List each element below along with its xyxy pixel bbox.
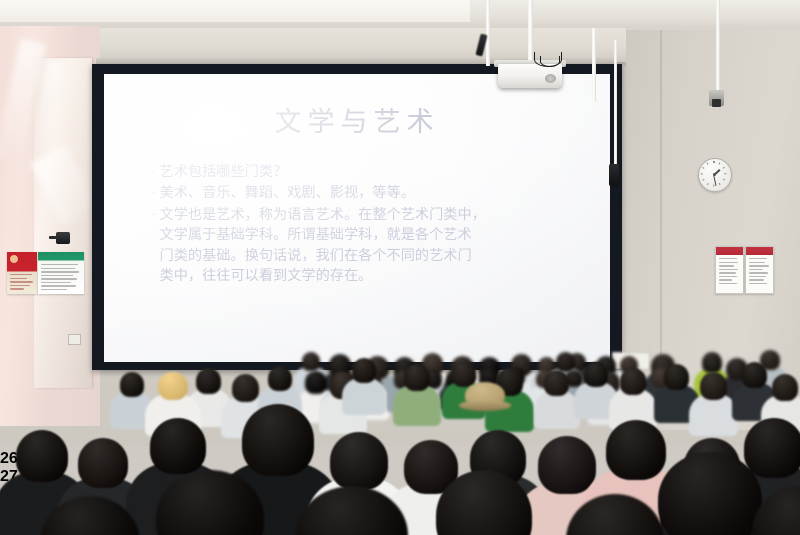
bullet-dot-icon: · bbox=[152, 183, 156, 203]
audience-member bbox=[620, 368, 646, 424]
wall-outlet bbox=[68, 334, 81, 345]
bullet-line: 类中，往往可以看到文学的存在。 bbox=[160, 266, 593, 286]
bullet-text: 文学也是艺术，称为语言艺术。在整个艺术门类中， 文学属于基础学科。所谓基础学科，… bbox=[160, 205, 593, 287]
slide-bullet: · 艺术包括哪些门类？ bbox=[152, 162, 592, 182]
audience-head bbox=[658, 452, 762, 535]
green-info-sign bbox=[680, 246, 712, 294]
audience-member bbox=[752, 486, 800, 535]
wall-clock bbox=[698, 158, 732, 192]
green-poster bbox=[38, 252, 84, 294]
audience-head bbox=[772, 374, 798, 401]
audience-head bbox=[268, 366, 292, 391]
audience-head bbox=[242, 404, 314, 476]
audience-shoulders bbox=[342, 378, 386, 415]
bullet-line: 文学属于基础学科。所谓基础学科，就是各个艺术 bbox=[160, 225, 593, 245]
audience-head bbox=[156, 470, 264, 535]
slide: 文学与艺术 · 艺术包括哪些门类？ · 美术、音乐、舞蹈、戏剧、影视，等等。 · bbox=[104, 74, 610, 362]
projector-lens-icon bbox=[545, 74, 556, 83]
audience-member bbox=[584, 362, 608, 414]
audience-member bbox=[436, 470, 532, 535]
audience-member bbox=[700, 372, 727, 430]
green-poster-text-lines bbox=[41, 264, 81, 293]
audience-head bbox=[452, 362, 476, 387]
audience-head bbox=[196, 368, 221, 394]
ceiling-pole bbox=[716, 0, 720, 92]
projector-cable-2 bbox=[540, 56, 560, 67]
notice-header bbox=[716, 247, 743, 255]
hanging-mic-cable bbox=[614, 40, 617, 170]
bullet-line: 门类的基础。换句话说，我们在各个不同的艺术门 bbox=[160, 246, 593, 266]
audience-member bbox=[296, 486, 408, 535]
lecture-hall-photo: 文学与艺术 · 艺术包括哪些门类？ · 美术、音乐、舞蹈、戏剧、影视，等等。 · bbox=[0, 0, 800, 535]
audience-member bbox=[544, 370, 569, 424]
projector-rod-left bbox=[486, 0, 490, 66]
bullet-line: 美术、音乐、舞蹈、戏剧、影视，等等。 bbox=[160, 183, 593, 203]
audience-head bbox=[302, 352, 320, 371]
audience-head bbox=[232, 374, 259, 402]
audience-member bbox=[156, 470, 264, 535]
audience-head bbox=[538, 436, 596, 494]
audience-head bbox=[150, 418, 206, 474]
red-poster bbox=[7, 252, 37, 294]
audience-head bbox=[296, 486, 408, 535]
audience-head bbox=[700, 372, 727, 400]
clock-center-pin bbox=[713, 173, 716, 176]
bullet-text: 美术、音乐、舞蹈、戏剧、影视，等等。 bbox=[160, 183, 593, 203]
audience-member bbox=[40, 496, 140, 535]
audience-head bbox=[584, 362, 608, 387]
notice-board-left bbox=[715, 246, 744, 294]
hanging-microphone bbox=[609, 164, 619, 186]
audience-head bbox=[120, 372, 144, 397]
audience-head bbox=[742, 362, 767, 388]
slide-title: 文学与艺术 bbox=[104, 100, 610, 139]
audience-head bbox=[436, 470, 532, 535]
audience-head bbox=[544, 370, 569, 396]
hat-brim bbox=[459, 400, 511, 411]
bullet-dot-icon: · bbox=[152, 162, 156, 182]
audience-head bbox=[606, 420, 666, 480]
bullet-line: 文学也是艺术，称为语言艺术。在整个艺术门类中， bbox=[160, 205, 593, 225]
audience-head bbox=[752, 486, 800, 535]
projector-rod-main bbox=[528, 0, 533, 66]
audience-head bbox=[16, 430, 68, 482]
ceiling-pole-camera-icon bbox=[709, 90, 724, 106]
audience-member bbox=[658, 452, 762, 535]
audience-head bbox=[620, 368, 646, 395]
left-pilaster bbox=[34, 58, 92, 388]
audience-head bbox=[158, 372, 188, 400]
red-poster-text-lines bbox=[10, 274, 34, 292]
notice-header bbox=[746, 247, 773, 255]
bullet-dot-icon: · bbox=[152, 205, 156, 225]
audience-member bbox=[664, 364, 689, 418]
notice-board-right bbox=[745, 246, 774, 294]
audience-head bbox=[352, 358, 376, 383]
audience-member bbox=[352, 358, 376, 410]
audience-member bbox=[404, 364, 430, 420]
bullet-line: 艺术包括哪些门类？ bbox=[160, 162, 593, 182]
projection-screen[interactable]: 文学与艺术 · 艺术包括哪些门类？ · 美术、音乐、舞蹈、戏剧、影视，等等。 · bbox=[104, 74, 610, 362]
notice-text-lines bbox=[716, 255, 743, 284]
slide-bullet: · 文学也是艺术，称为语言艺术。在整个艺术门类中， 文学属于基础学科。所谓基础学… bbox=[152, 205, 592, 287]
audience-head bbox=[78, 438, 128, 488]
ceiling-rod-right bbox=[592, 28, 596, 102]
audience-head bbox=[664, 364, 689, 390]
right-wall-seam bbox=[660, 30, 662, 360]
notice-text-lines bbox=[746, 255, 773, 284]
slide-body: · 艺术包括哪些门类？ · 美术、音乐、舞蹈、戏剧、影视，等等。 · 文学也是艺… bbox=[152, 162, 592, 287]
wall-camera-icon bbox=[56, 232, 70, 244]
audience-head bbox=[330, 432, 388, 490]
audience-member bbox=[566, 494, 664, 535]
audience-head bbox=[566, 494, 664, 535]
audience-shoulders bbox=[689, 394, 739, 436]
audience-shoulders bbox=[534, 391, 580, 430]
bullet-text: 艺术包括哪些门类？ bbox=[160, 162, 593, 182]
audience-head bbox=[404, 364, 430, 391]
audience-head bbox=[702, 352, 722, 373]
poster-emblem-icon bbox=[10, 255, 18, 263]
ceiling-highlight bbox=[0, 0, 470, 22]
slide-bullet: · 美术、音乐、舞蹈、戏剧、影视，等等。 bbox=[152, 183, 592, 203]
audience-shoulders bbox=[393, 385, 441, 425]
audience-head bbox=[305, 371, 327, 394]
audience-member bbox=[120, 372, 144, 424]
audience-head bbox=[40, 496, 140, 535]
